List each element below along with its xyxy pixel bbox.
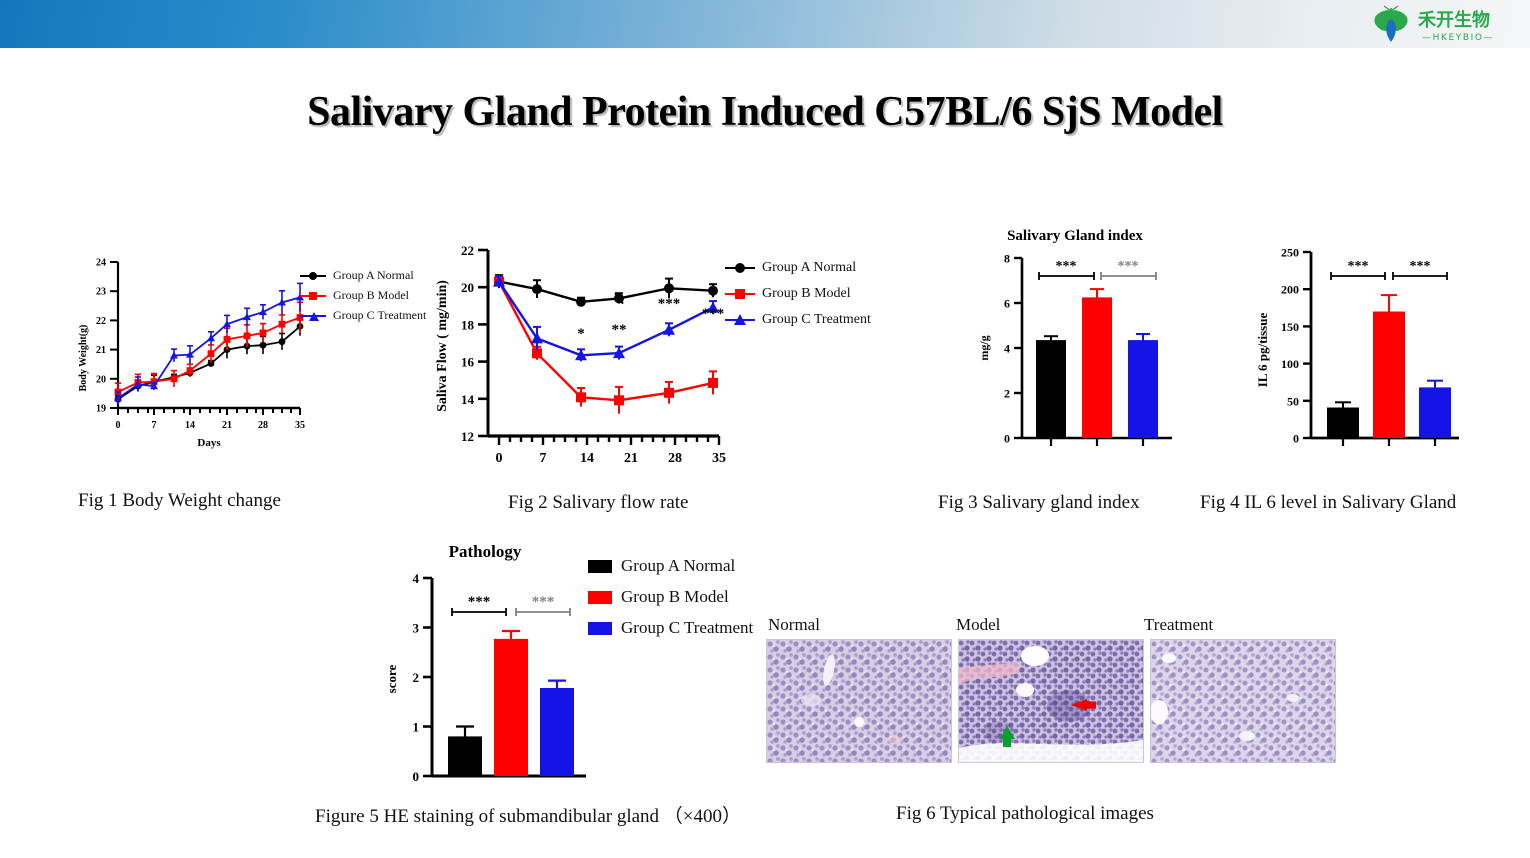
svg-text:14: 14	[185, 420, 195, 431]
fig5-legend-item-b: Group B Model	[588, 587, 753, 607]
fig2-legend-label-a: Group A Normal	[762, 260, 856, 276]
fig4-sig-2: ***	[1410, 259, 1431, 274]
page-title: Salivary Gland Protein Induced C57BL/6 S…	[0, 88, 1530, 136]
svg-text:mg/g: mg/g	[977, 335, 991, 360]
fig2-annotation-3: ***	[658, 296, 681, 312]
fig5-plot: 0 1 2 3 4 score *** ***	[370, 564, 600, 804]
svg-text:0: 0	[413, 769, 420, 784]
svg-text:7: 7	[540, 451, 547, 466]
svg-text:24: 24	[96, 258, 106, 269]
fig5-legend-label-a: Group A Normal	[621, 556, 735, 576]
svg-text:Saliva Flow ( mg/min): Saliva Flow ( mg/min)	[435, 280, 450, 412]
svg-text:100: 100	[1281, 357, 1299, 371]
svg-text:3: 3	[413, 621, 420, 636]
svg-text:0: 0	[1293, 432, 1299, 446]
logo-chinese-text: 禾开生物	[1418, 9, 1490, 31]
fig1-legend-item-a: Group A Normal	[300, 268, 426, 283]
fig1-legend-label-c: Group C Treatment	[333, 308, 426, 323]
histology-label-treatment: Treatment	[1144, 615, 1213, 635]
fig1-legend-label-a: Group A Normal	[333, 268, 414, 283]
svg-text:Days: Days	[197, 437, 221, 449]
header-bar	[0, 0, 1530, 48]
svg-text:50: 50	[1287, 394, 1299, 408]
svg-text:35: 35	[712, 451, 726, 466]
figure-5-caption: Figure 5 HE staining of submandibular gl…	[315, 801, 741, 828]
fig5-sig-2: ***	[532, 594, 555, 610]
svg-text:1: 1	[413, 720, 420, 735]
svg-text:28: 28	[668, 451, 682, 466]
svg-text:score: score	[384, 664, 399, 693]
histology-image-treatment	[1150, 639, 1336, 763]
fig4-sig-1: ***	[1348, 259, 1369, 274]
svg-text:16: 16	[461, 355, 475, 370]
fig5-legend: Group A Normal Group B Model Group C Tre…	[588, 556, 753, 643]
fig2-annotation-2: **	[612, 322, 627, 338]
fig2-legend-label-c: Group C Treatment	[762, 312, 871, 328]
legend-swatch-blue	[588, 622, 612, 635]
fig3-sig-1: ***	[1056, 259, 1077, 274]
svg-text:28: 28	[258, 420, 268, 431]
fig5-title: Pathology	[370, 542, 600, 562]
histology-image-model	[958, 639, 1144, 763]
svg-text:250: 250	[1281, 246, 1299, 260]
figure-2-caption: Fig 2 Salivary flow rate	[508, 492, 688, 514]
histology-label-normal: Normal	[768, 615, 820, 635]
svg-text:200: 200	[1281, 283, 1299, 297]
svg-text:35: 35	[295, 420, 305, 431]
svg-text:14: 14	[580, 451, 594, 466]
fig5-legend-label-b: Group B Model	[621, 587, 729, 607]
figure-1-caption: Fig 1 Body Weight change	[78, 490, 281, 512]
figure-6-caption: Fig 6 Typical pathological images	[896, 803, 1154, 825]
svg-text:0: 0	[496, 451, 503, 466]
svg-text:7: 7	[152, 420, 157, 431]
svg-text:Body Weight(g): Body Weight(g)	[78, 325, 89, 392]
fig5-legend-item-c: Group C Treatment	[588, 618, 753, 638]
hkeybio-logo: 禾开生物 —HKEYBIO—	[1366, 4, 1516, 46]
fig5-legend-item-a: Group A Normal	[588, 556, 753, 576]
svg-text:8: 8	[1004, 252, 1010, 266]
fig4-plot: 0 50 100 150 200 250 IL 6 pg/tissue *** …	[1235, 240, 1475, 470]
histology-image-normal	[766, 639, 952, 763]
figure-4-caption: Fig 4 IL 6 level in Salivary Gland	[1200, 492, 1456, 514]
svg-text:4: 4	[413, 571, 420, 586]
fig1-legend: Group A Normal Group B Model Group C Tre…	[300, 268, 426, 328]
svg-text:20: 20	[461, 280, 474, 295]
svg-text:0: 0	[1004, 432, 1010, 446]
figure-1-body-weight: 19 20 21 22 23 24 0714 212835 Days Bod	[60, 248, 420, 468]
legend-marker-square-icon	[300, 290, 326, 302]
svg-text:12: 12	[461, 429, 474, 444]
histology-label-model: Model	[956, 615, 1000, 635]
legend-marker-triangle-icon	[725, 314, 755, 326]
svg-text:22: 22	[96, 316, 106, 327]
figure-3-caption: Fig 3 Salivary gland index	[938, 492, 1140, 514]
logo-latin-text: —HKEYBIO—	[1422, 33, 1494, 43]
svg-text:23: 23	[96, 287, 106, 298]
figure-6-histology: Normal Model Treatment	[766, 615, 1338, 765]
svg-text:150: 150	[1281, 320, 1299, 334]
fig5-sig-1: ***	[468, 594, 491, 610]
svg-text:2: 2	[413, 670, 420, 685]
svg-text:4: 4	[1004, 342, 1010, 356]
fig1-legend-label-b: Group B Model	[333, 288, 409, 303]
fig2-annotation-4: ***	[702, 306, 725, 322]
svg-text:14: 14	[461, 392, 475, 407]
figure-2-saliva-flow: 12 14 16 18 20 22 Saliva Flow ( mg/min) …	[420, 238, 890, 468]
svg-text:18: 18	[461, 317, 475, 332]
fig5-legend-label-c: Group C Treatment	[621, 618, 753, 638]
figure-4-il6: 0 50 100 150 200 250 IL 6 pg/tissue *** …	[1235, 240, 1475, 475]
legend-marker-triangle-icon	[300, 310, 326, 322]
fig1-legend-item-b: Group B Model	[300, 288, 426, 303]
fig3-title: Salivary Gland index	[960, 228, 1190, 245]
legend-marker-circle-icon	[300, 270, 326, 282]
logo-artwork: 禾开生物 —HKEYBIO—	[1366, 4, 1516, 46]
fig3-sig-2: ***	[1118, 259, 1139, 274]
fig2-annotation-1: *	[577, 326, 585, 342]
fig2-legend: Group A Normal Group B Model Group C Tre…	[725, 260, 871, 333]
svg-text:IL 6 pg/tissue: IL 6 pg/tissue	[1255, 313, 1270, 388]
fig2-legend-item-a: Group A Normal	[725, 260, 871, 276]
svg-text:22: 22	[461, 243, 474, 258]
fig1-legend-item-c: Group C Treatment	[300, 308, 426, 323]
legend-swatch-red	[588, 591, 612, 604]
fig2-legend-item-c: Group C Treatment	[725, 312, 871, 328]
svg-text:21: 21	[222, 420, 232, 431]
figure-3-salivary-gland-index: Salivary Gland index 0 2 4 6 8 mg/g	[960, 228, 1190, 473]
legend-marker-square-icon	[725, 288, 755, 300]
figure-5-pathology: Pathology 0 1 2 3 4 score *** ***	[370, 542, 600, 802]
svg-text:0: 0	[116, 420, 121, 431]
svg-text:20: 20	[96, 374, 106, 385]
svg-text:21: 21	[96, 345, 106, 356]
svg-text:19: 19	[96, 404, 106, 415]
legend-swatch-black	[588, 560, 612, 573]
svg-text:21: 21	[624, 451, 638, 466]
fig2-legend-label-b: Group B Model	[762, 286, 851, 302]
fig3-plot: 0 2 4 6 8 mg/g *** ***	[960, 244, 1190, 469]
svg-text:2: 2	[1004, 387, 1010, 401]
svg-text:6: 6	[1004, 297, 1010, 311]
legend-marker-circle-icon	[725, 262, 755, 274]
fig2-legend-item-b: Group B Model	[725, 286, 871, 302]
